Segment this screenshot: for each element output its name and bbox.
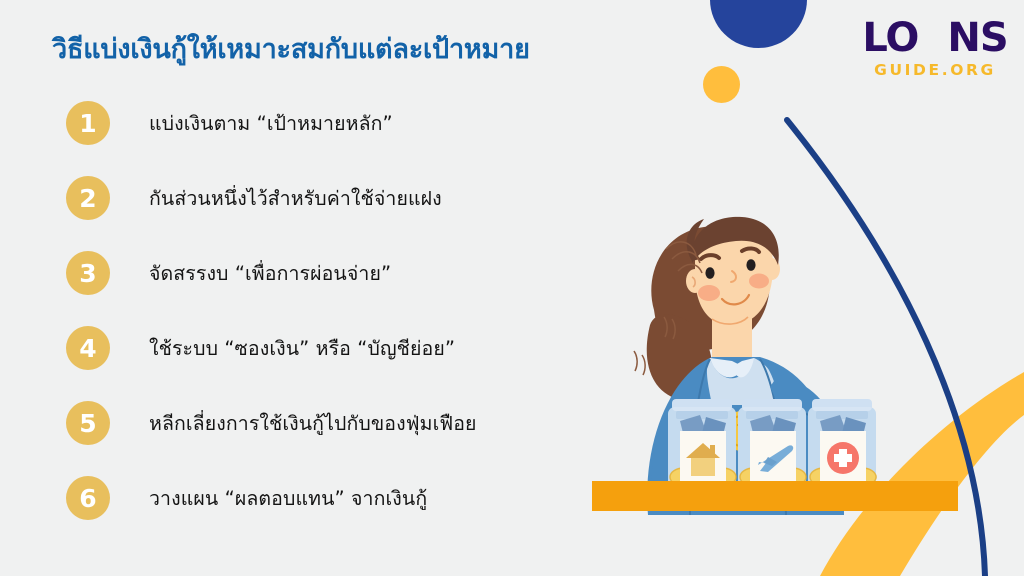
step-number-badge: 1 xyxy=(66,101,110,145)
step-number-badge: 6 xyxy=(66,476,110,520)
step-text: แบ่งเงินตาม “เป้าหมายหลัก” xyxy=(149,108,393,139)
list-item: 5 หลีกเลี่ยงการใช้เงินกู้ไปกับของฟุ่มเฟื… xyxy=(66,398,606,448)
list-item: 4 ใช้ระบบ “ซองเงิน” หรือ “บัญชีย่อย” xyxy=(66,323,606,373)
step-number-badge: 4 xyxy=(66,326,110,370)
step-number-badge: 2 xyxy=(66,176,110,220)
list-item: 6 วางแผน “ผลตอบแทน” จากเงินกู้ xyxy=(66,473,606,523)
list-item: 1 แบ่งเงินตาม “เป้าหมายหลัก” xyxy=(66,98,606,148)
logo-text-before-a: LO xyxy=(862,15,918,61)
logo-text-after-a: NS xyxy=(947,15,1007,61)
step-number-badge: 3 xyxy=(66,251,110,295)
deep-blue-circle xyxy=(710,0,807,48)
step-text: จัดสรรงบ “เพื่อการผ่อนจ่าย” xyxy=(149,258,391,289)
step-text: ใช้ระบบ “ซองเงิน” หรือ “บัญชีย่อย” xyxy=(149,333,455,364)
slide-canvas: วิธีแบ่งเงินกู้ให้เหมาะสมกับแต่ละเป้าหมา… xyxy=(0,0,1024,576)
steps-list: 1 แบ่งเงินตาม “เป้าหมายหลัก” 2 กันส่วนหน… xyxy=(66,98,606,548)
savings-illustration xyxy=(592,215,972,515)
yellow-dot xyxy=(703,66,740,103)
list-item: 2 กันส่วนหนึ่งไว้สำหรับค่าใช้จ่ายแฝง xyxy=(66,173,606,223)
step-text: หลีกเลี่ยงการใช้เงินกู้ไปกับของฟุ่มเฟือย xyxy=(149,408,477,439)
list-item: 3 จัดสรรงบ “เพื่อการผ่อนจ่าย” xyxy=(66,248,606,298)
logo-subtitle: GUIDE.ORG xyxy=(862,63,1008,79)
logo-letter-a: A xyxy=(918,18,947,58)
brand-logo[interactable]: LOANS GUIDE.ORG xyxy=(862,18,1008,79)
step-text: กันส่วนหนึ่งไว้สำหรับค่าใช้จ่ายแฝง xyxy=(149,183,442,214)
logo-wordmark: LOANS xyxy=(862,18,1008,58)
page-title: วิธีแบ่งเงินกู้ให้เหมาะสมกับแต่ละเป้าหมา… xyxy=(52,27,530,70)
step-number-badge: 5 xyxy=(66,401,110,445)
step-text: วางแผน “ผลตอบแทน” จากเงินกู้ xyxy=(149,483,427,514)
woman-with-jars-graphic xyxy=(592,215,972,515)
table-surface xyxy=(592,481,958,511)
